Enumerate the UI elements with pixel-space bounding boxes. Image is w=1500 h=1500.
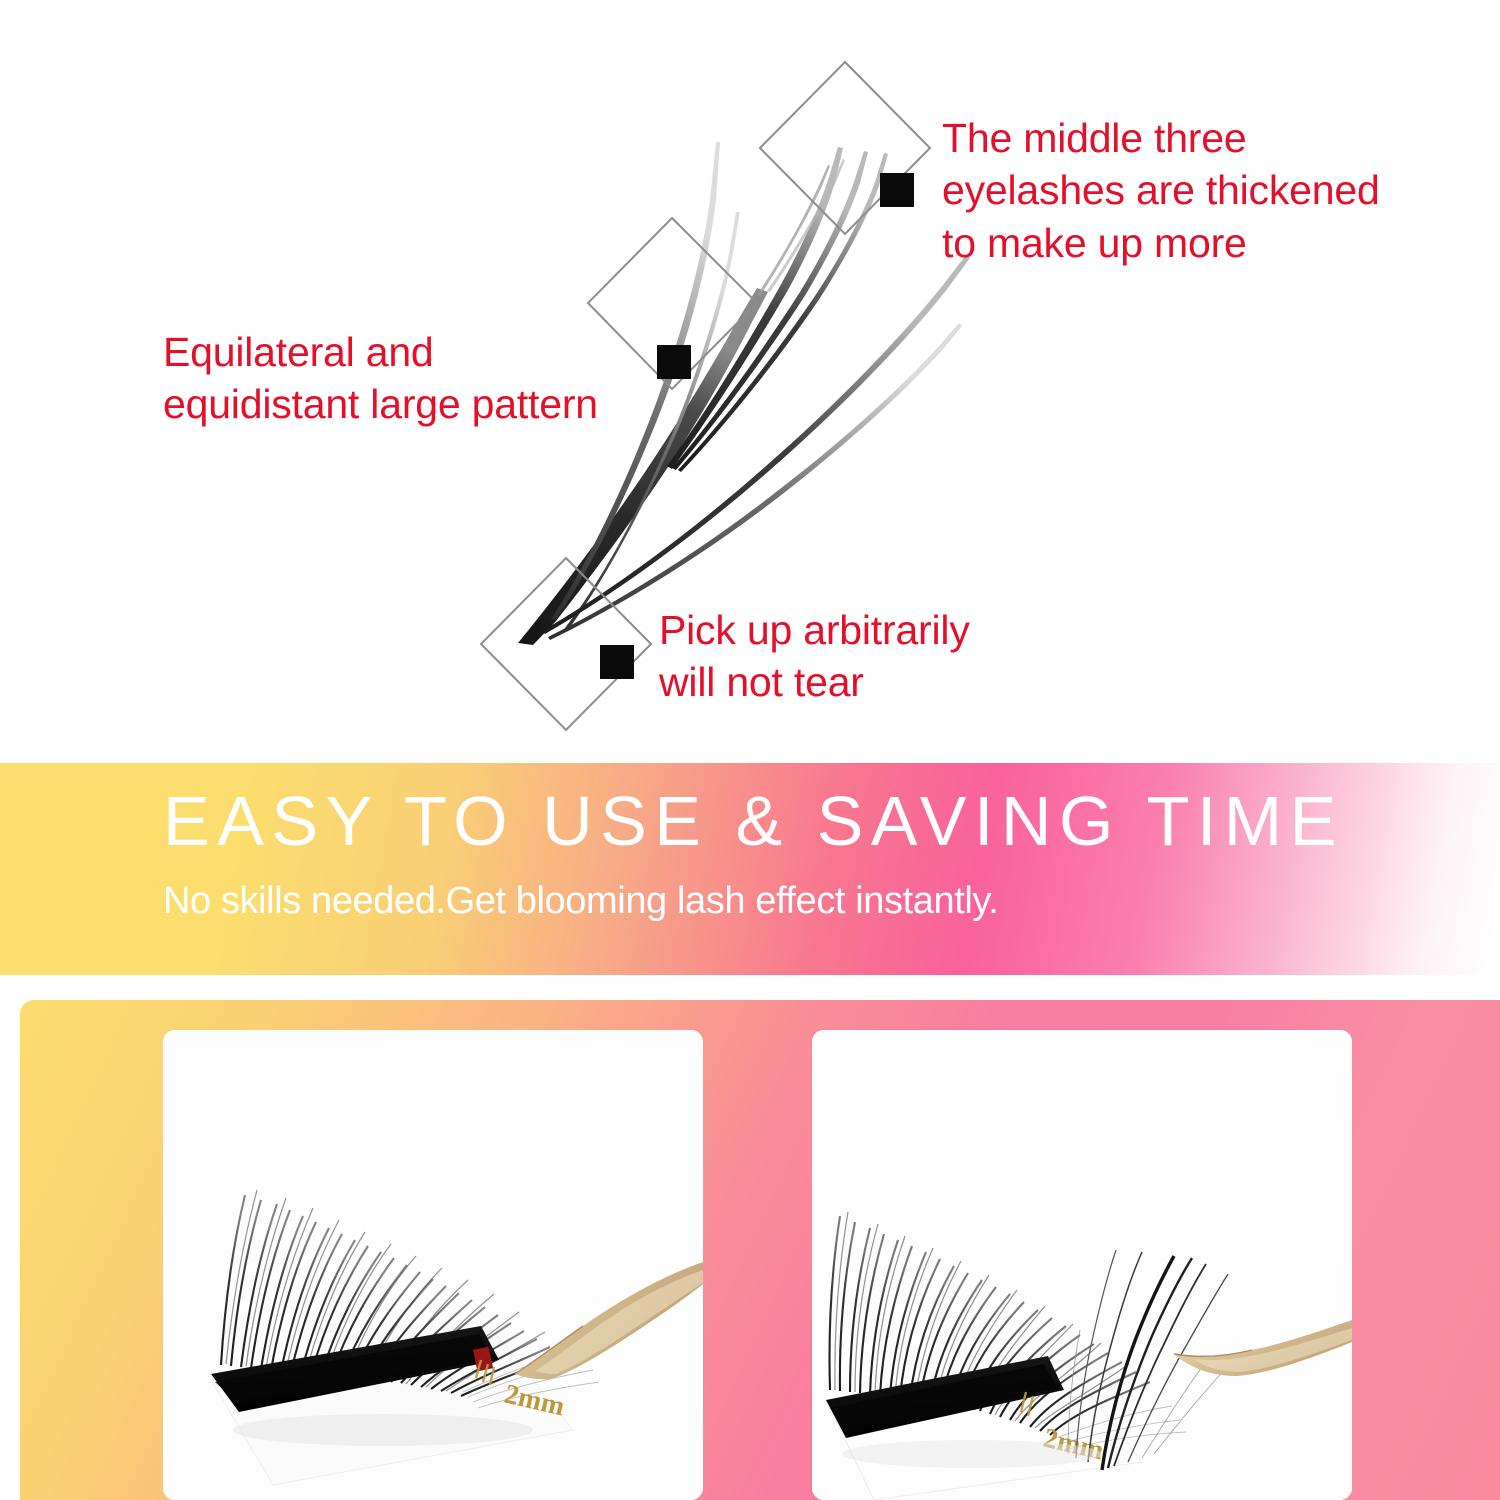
banner-subtitle: No skills needed.Get blooming lash effec… (163, 882, 998, 920)
headline-banner: EASY TO USE & SAVING TIME No skills need… (0, 763, 1500, 975)
callout-equilateral-pattern: Equilateral and equidistant large patter… (163, 326, 598, 431)
photo-gallery-panel: 2mm (20, 1000, 1500, 1500)
photo-lash-tray-with-tweezers: 2mm (163, 1030, 703, 1500)
callout-middle-three-thickened: The middle three eyelashes are thickened… (942, 112, 1380, 269)
photo-card-lash-tray-tweezers[interactable]: 2mm (163, 1030, 703, 1500)
photo-card-lash-fan-pickup[interactable]: 2mm (812, 1030, 1352, 1500)
photo-lash-fan-picked-by-tweezers: 2mm (812, 1030, 1352, 1500)
feature-diagram-section: The middle three eyelashes are thickened… (0, 0, 1500, 763)
banner-title: EASY TO USE & SAVING TIME (163, 786, 1344, 856)
callout-pick-up-no-tear: Pick up arbitrarily will not tear (659, 604, 970, 709)
